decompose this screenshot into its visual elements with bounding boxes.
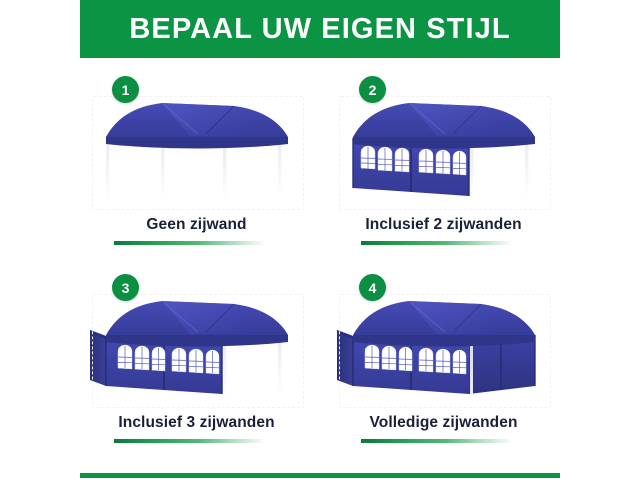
option-card-4[interactable]: 4 bbox=[327, 262, 560, 454]
tent-full-walls-icon bbox=[329, 290, 559, 412]
option-label-3: Inclusief 3 zijwanden bbox=[118, 414, 274, 432]
footer-rule bbox=[80, 473, 560, 478]
option-underline-4 bbox=[361, 439, 513, 443]
option-label-2: Inclusief 2 zijwanden bbox=[365, 216, 521, 234]
tent-two-walls-icon bbox=[329, 92, 559, 214]
option-label-4: Volledige zijwanden bbox=[369, 414, 517, 432]
header-banner: BEPAAL UW EIGEN STIJL bbox=[80, 0, 560, 58]
option-underline-3 bbox=[114, 439, 266, 443]
page-title: BEPAAL UW EIGEN STIJL bbox=[129, 15, 510, 44]
infographic-root: BEPAAL UW EIGEN STIJL 1 bbox=[0, 0, 640, 480]
option-underline-2 bbox=[361, 241, 513, 245]
options-grid: 1 bbox=[80, 64, 560, 454]
option-number-badge-4: 4 bbox=[359, 274, 386, 301]
option-underline-1 bbox=[114, 241, 266, 245]
option-card-3[interactable]: 3 bbox=[80, 262, 313, 454]
option-number-badge-3: 3 bbox=[112, 274, 139, 301]
tent-no-walls-icon bbox=[82, 92, 312, 214]
tent-three-walls-icon bbox=[82, 290, 312, 412]
option-number-badge-1: 1 bbox=[112, 76, 139, 103]
option-card-1[interactable]: 1 bbox=[80, 64, 313, 256]
option-number-badge-2: 2 bbox=[359, 76, 386, 103]
option-card-2[interactable]: 2 bbox=[327, 64, 560, 256]
option-label-1: Geen zijwand bbox=[146, 216, 246, 234]
